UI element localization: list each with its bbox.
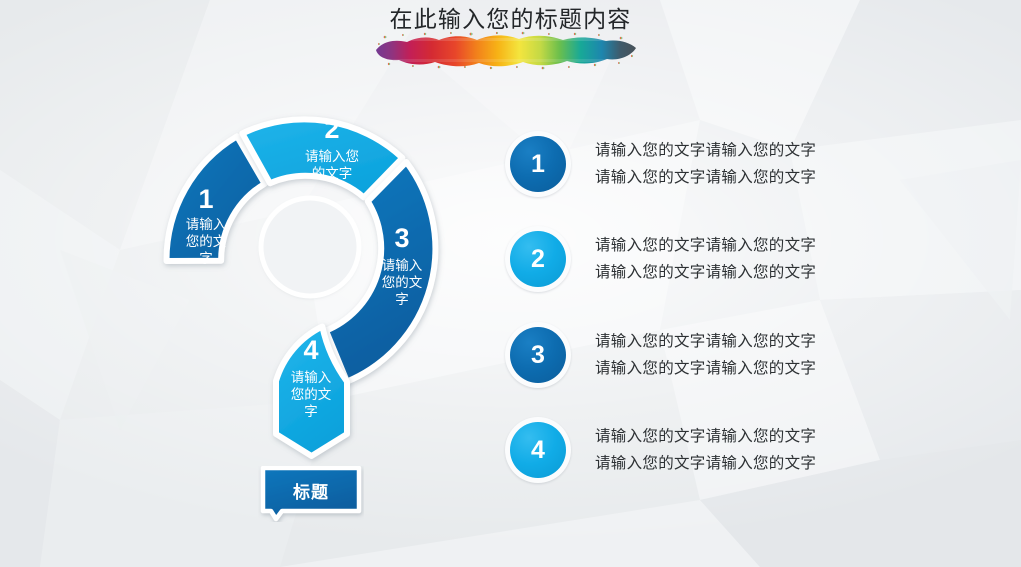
segment-2-line-2: 的文字 [312, 166, 353, 181]
list-item-4-badge[interactable]: 4 [505, 417, 571, 483]
bullet-list: 1 请输入您的文字请输入您的文字 请输入您的文字请输入您的文字 2 请输入您的文… [505, 126, 975, 496]
segment-3-line-1: 请输入 [382, 258, 423, 273]
list-item-1-badge[interactable]: 1 [505, 131, 571, 197]
diagram-inner-hole [261, 198, 359, 296]
badge-number: 4 [510, 422, 566, 478]
segment-2-line-1: 请输入您 [305, 148, 359, 164]
segment-4-number: 4 [303, 335, 318, 365]
segment-4-line-2: 您的文 [291, 386, 332, 402]
list-item-3-text: 请输入您的文字请输入您的文字 请输入您的文字请输入您的文字 [595, 328, 975, 382]
badge-number: 2 [510, 231, 566, 287]
segment-4-line-3: 字 [304, 404, 318, 419]
segment-1-line-3: 字 [199, 251, 213, 266]
list-item-4-line-2: 请输入您的文字请输入您的文字 [595, 450, 975, 477]
list-item-4-text: 请输入您的文字请输入您的文字 请输入您的文字请输入您的文字 [595, 423, 975, 477]
list-item-2-text: 请输入您的文字请输入您的文字 请输入您的文字请输入您的文字 [595, 232, 975, 286]
segment-3-line-3: 字 [395, 292, 409, 307]
list-item-2-line-1: 请输入您的文字请输入您的文字 [595, 232, 975, 259]
list-item[interactable]: 4 请输入您的文字请输入您的文字 请输入您的文字请输入您的文字 [505, 412, 975, 488]
list-item-2-line-2: 请输入您的文字请输入您的文字 [595, 259, 975, 286]
list-item-1-line-2: 请输入您的文字请输入您的文字 [595, 164, 975, 191]
badge-number: 1 [510, 136, 566, 192]
list-item-3-line-2: 请输入您的文字请输入您的文字 [595, 355, 975, 382]
list-item-1-text: 请输入您的文字请输入您的文字 请输入您的文字请输入您的文字 [595, 137, 975, 191]
segment-1-line-2: 您的文 [186, 233, 227, 249]
list-item[interactable]: 1 请输入您的文字请输入您的文字 请输入您的文字请输入您的文字 [505, 126, 975, 202]
callout-label: 标题 [258, 466, 364, 515]
segment-4-line-1: 请输入 [291, 370, 332, 385]
segment-3-number: 3 [394, 223, 409, 253]
list-item-1-line-1: 请输入您的文字请输入您的文字 [595, 137, 975, 164]
badge-number: 3 [510, 327, 566, 383]
list-item-2-badge[interactable]: 2 [505, 226, 571, 292]
diagram-title-callout[interactable]: 标题 [258, 466, 364, 522]
question-mark-diagram: 1 请输入 您的文 字 2 请输入您 的文字 3 请输入 您的文 字 4 请输入… [140, 95, 490, 465]
segment-1-number: 1 [198, 184, 213, 214]
slide-canvas: 在此输入您的标题内容 [0, 0, 1021, 567]
list-item[interactable]: 3 请输入您的文字请输入您的文字 请输入您的文字请输入您的文字 [505, 317, 975, 393]
list-item[interactable]: 2 请输入您的文字请输入您的文字 请输入您的文字请输入您的文字 [505, 221, 975, 297]
segment-3-line-2: 您的文 [382, 274, 423, 290]
list-item-4-line-1: 请输入您的文字请输入您的文字 [595, 423, 975, 450]
list-item-3-line-1: 请输入您的文字请输入您的文字 [595, 328, 975, 355]
segment-1-line-1: 请输入 [186, 217, 227, 232]
paint-splatter-rainbow-icon [373, 30, 639, 70]
segment-2-number: 2 [324, 114, 339, 144]
list-item-3-badge[interactable]: 3 [505, 322, 571, 388]
